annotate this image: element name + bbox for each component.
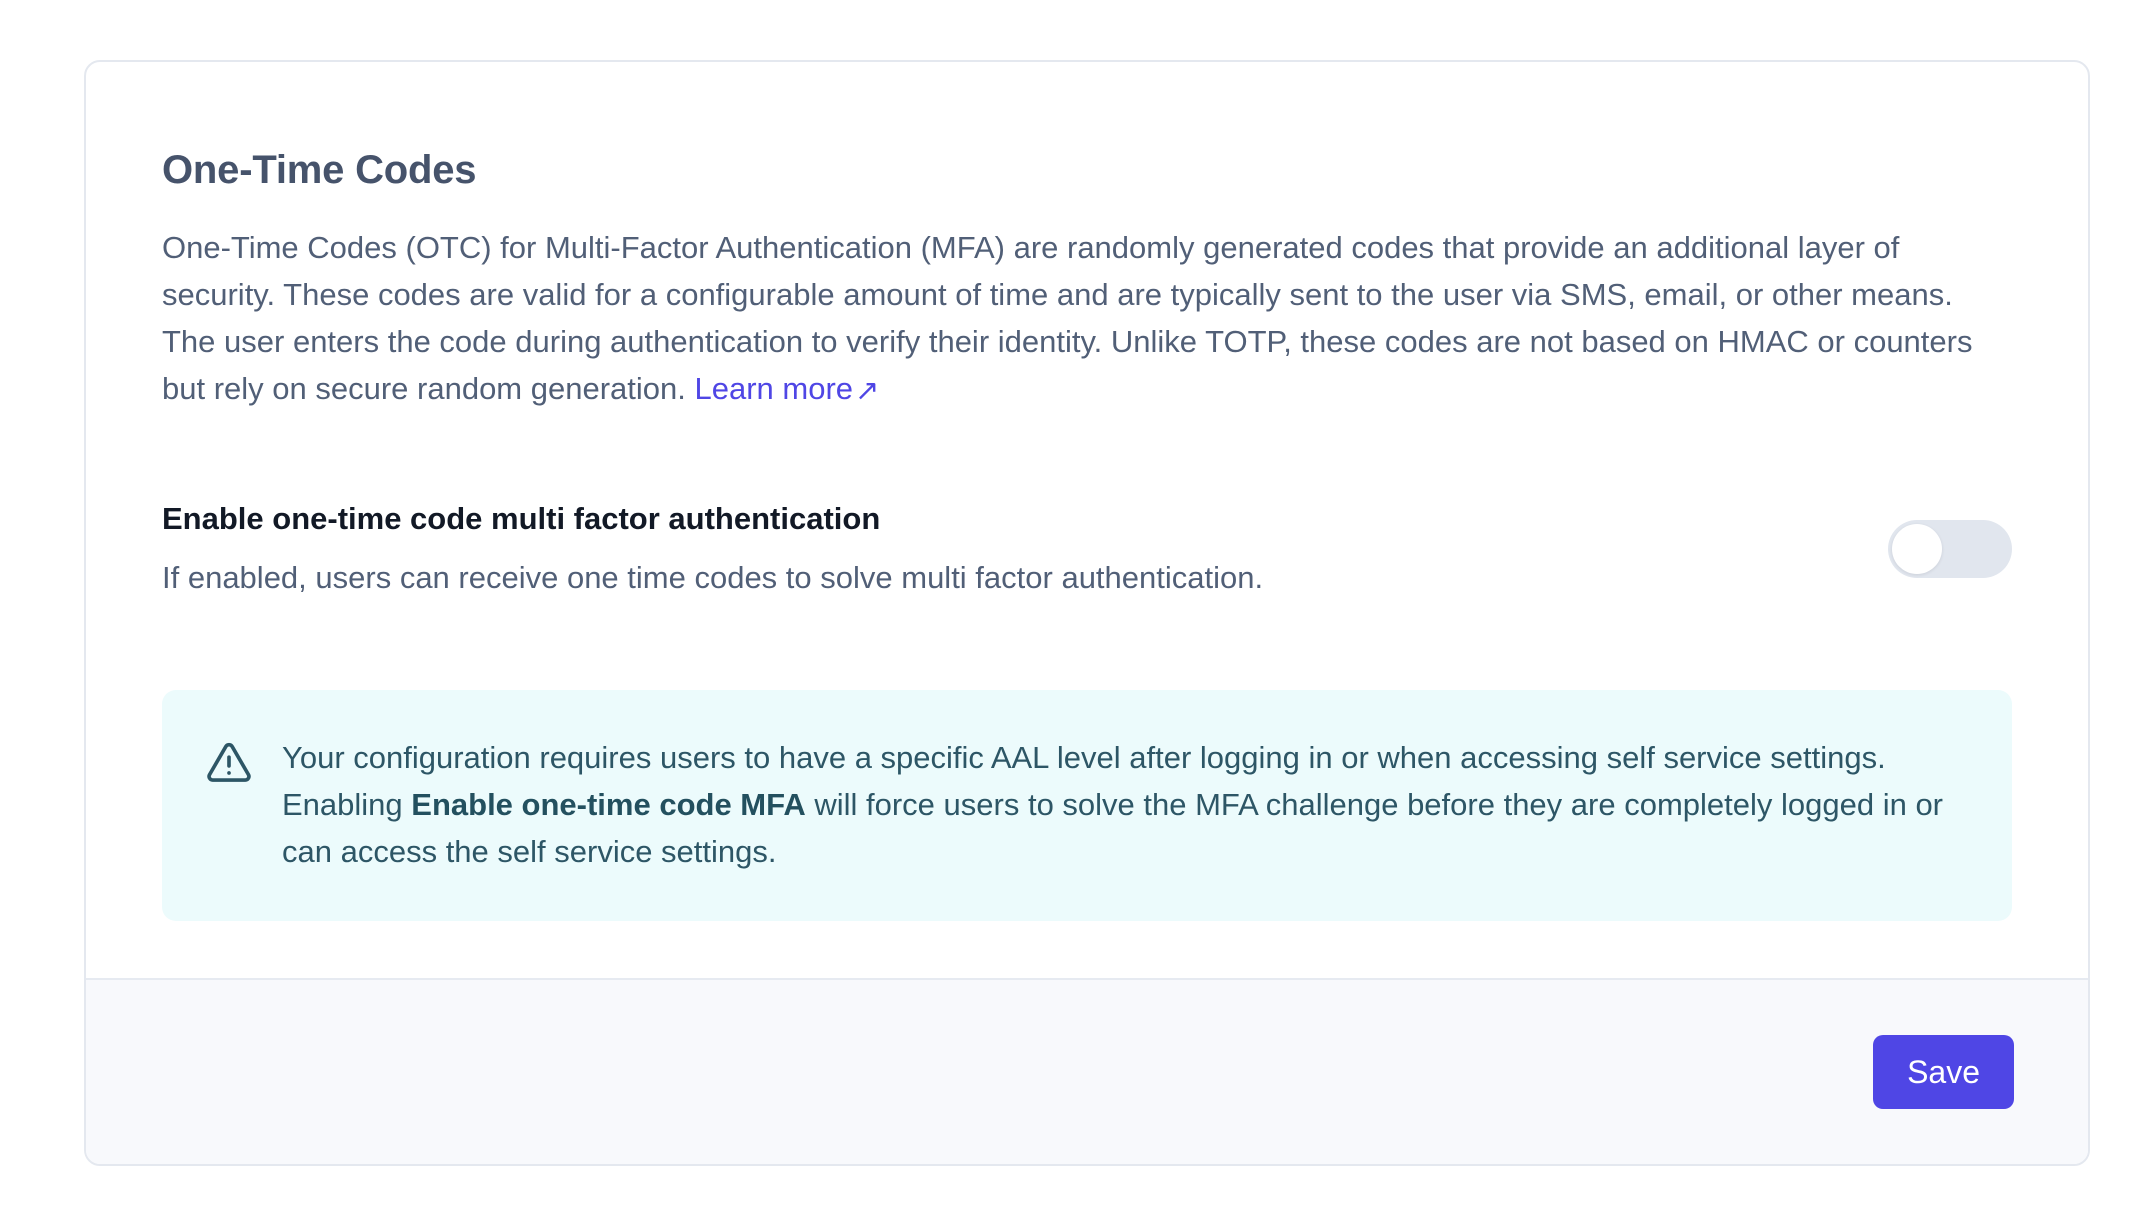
setting-label: Enable one-time code multi factor authen… [162, 500, 1848, 539]
page-root: One-Time Codes One-Time Codes (OTC) for … [0, 0, 2146, 1218]
toggle-knob [1892, 524, 1942, 574]
card-footer: Save [86, 978, 2088, 1164]
page-title: One-Time Codes [162, 146, 2012, 194]
card-description: One-Time Codes (OTC) for Multi-Factor Au… [162, 224, 2012, 412]
setting-description: If enabled, users can receive one time c… [162, 559, 1848, 598]
enable-otc-mfa-row: Enable one-time code multi factor authen… [162, 500, 2012, 598]
alert-message: Your configuration requires users to hav… [282, 734, 1964, 875]
card-description-text: One-Time Codes (OTC) for Multi-Factor Au… [162, 230, 1972, 406]
learn-more-label: Learn more [694, 371, 853, 406]
card-body: One-Time Codes One-Time Codes (OTC) for … [86, 62, 2088, 978]
enable-otc-mfa-toggle[interactable] [1888, 520, 2012, 578]
aal-warning-alert: Your configuration requires users to hav… [162, 690, 2012, 921]
warning-triangle-icon [206, 740, 252, 786]
one-time-codes-card: One-Time Codes One-Time Codes (OTC) for … [84, 60, 2090, 1166]
arrow-up-right-icon: ↗ [855, 377, 879, 406]
learn-more-link[interactable]: Learn more↗ [694, 371, 879, 406]
save-button[interactable]: Save [1873, 1035, 2014, 1109]
alert-emphasis: Enable one-time code MFA [411, 787, 805, 822]
setting-text-block: Enable one-time code multi factor authen… [162, 500, 1848, 598]
